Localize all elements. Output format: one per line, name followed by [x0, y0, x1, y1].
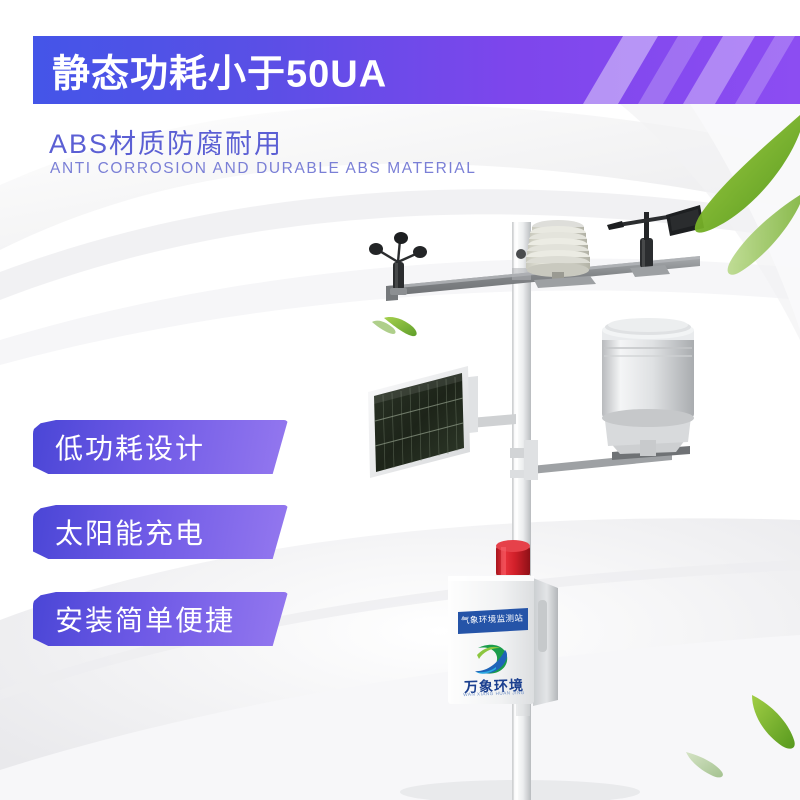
rain-gauge-sensor — [524, 318, 694, 480]
subtitle-chinese: ABS材质防腐耐用 — [49, 122, 283, 161]
weather-station-illustration — [0, 0, 800, 800]
subtitle-english: ANTI CORROSION AND DURABLE ABS MATERIAL — [50, 160, 476, 178]
header-banner: 静态功耗小于50UA — [33, 36, 800, 104]
feature-pill-label: 低功耗设计 — [55, 427, 205, 467]
feature-pill-solar-charging[interactable]: 太阳能充电 — [33, 505, 288, 559]
banner-title: 静态功耗小于50UA — [52, 43, 387, 98]
feature-pill-label: 太阳能充电 — [55, 512, 205, 552]
feature-pill-label: 安装简单便捷 — [55, 599, 235, 639]
product-promo-image: 静态功耗小于50UA ABS材质防腐耐用 ANTI CORROSION AND … — [0, 0, 800, 800]
feature-pill-easy-install[interactable]: 安装简单便捷 — [33, 592, 288, 646]
feature-pill-low-power[interactable]: 低功耗设计 — [33, 420, 288, 474]
solar-panel — [368, 366, 516, 478]
